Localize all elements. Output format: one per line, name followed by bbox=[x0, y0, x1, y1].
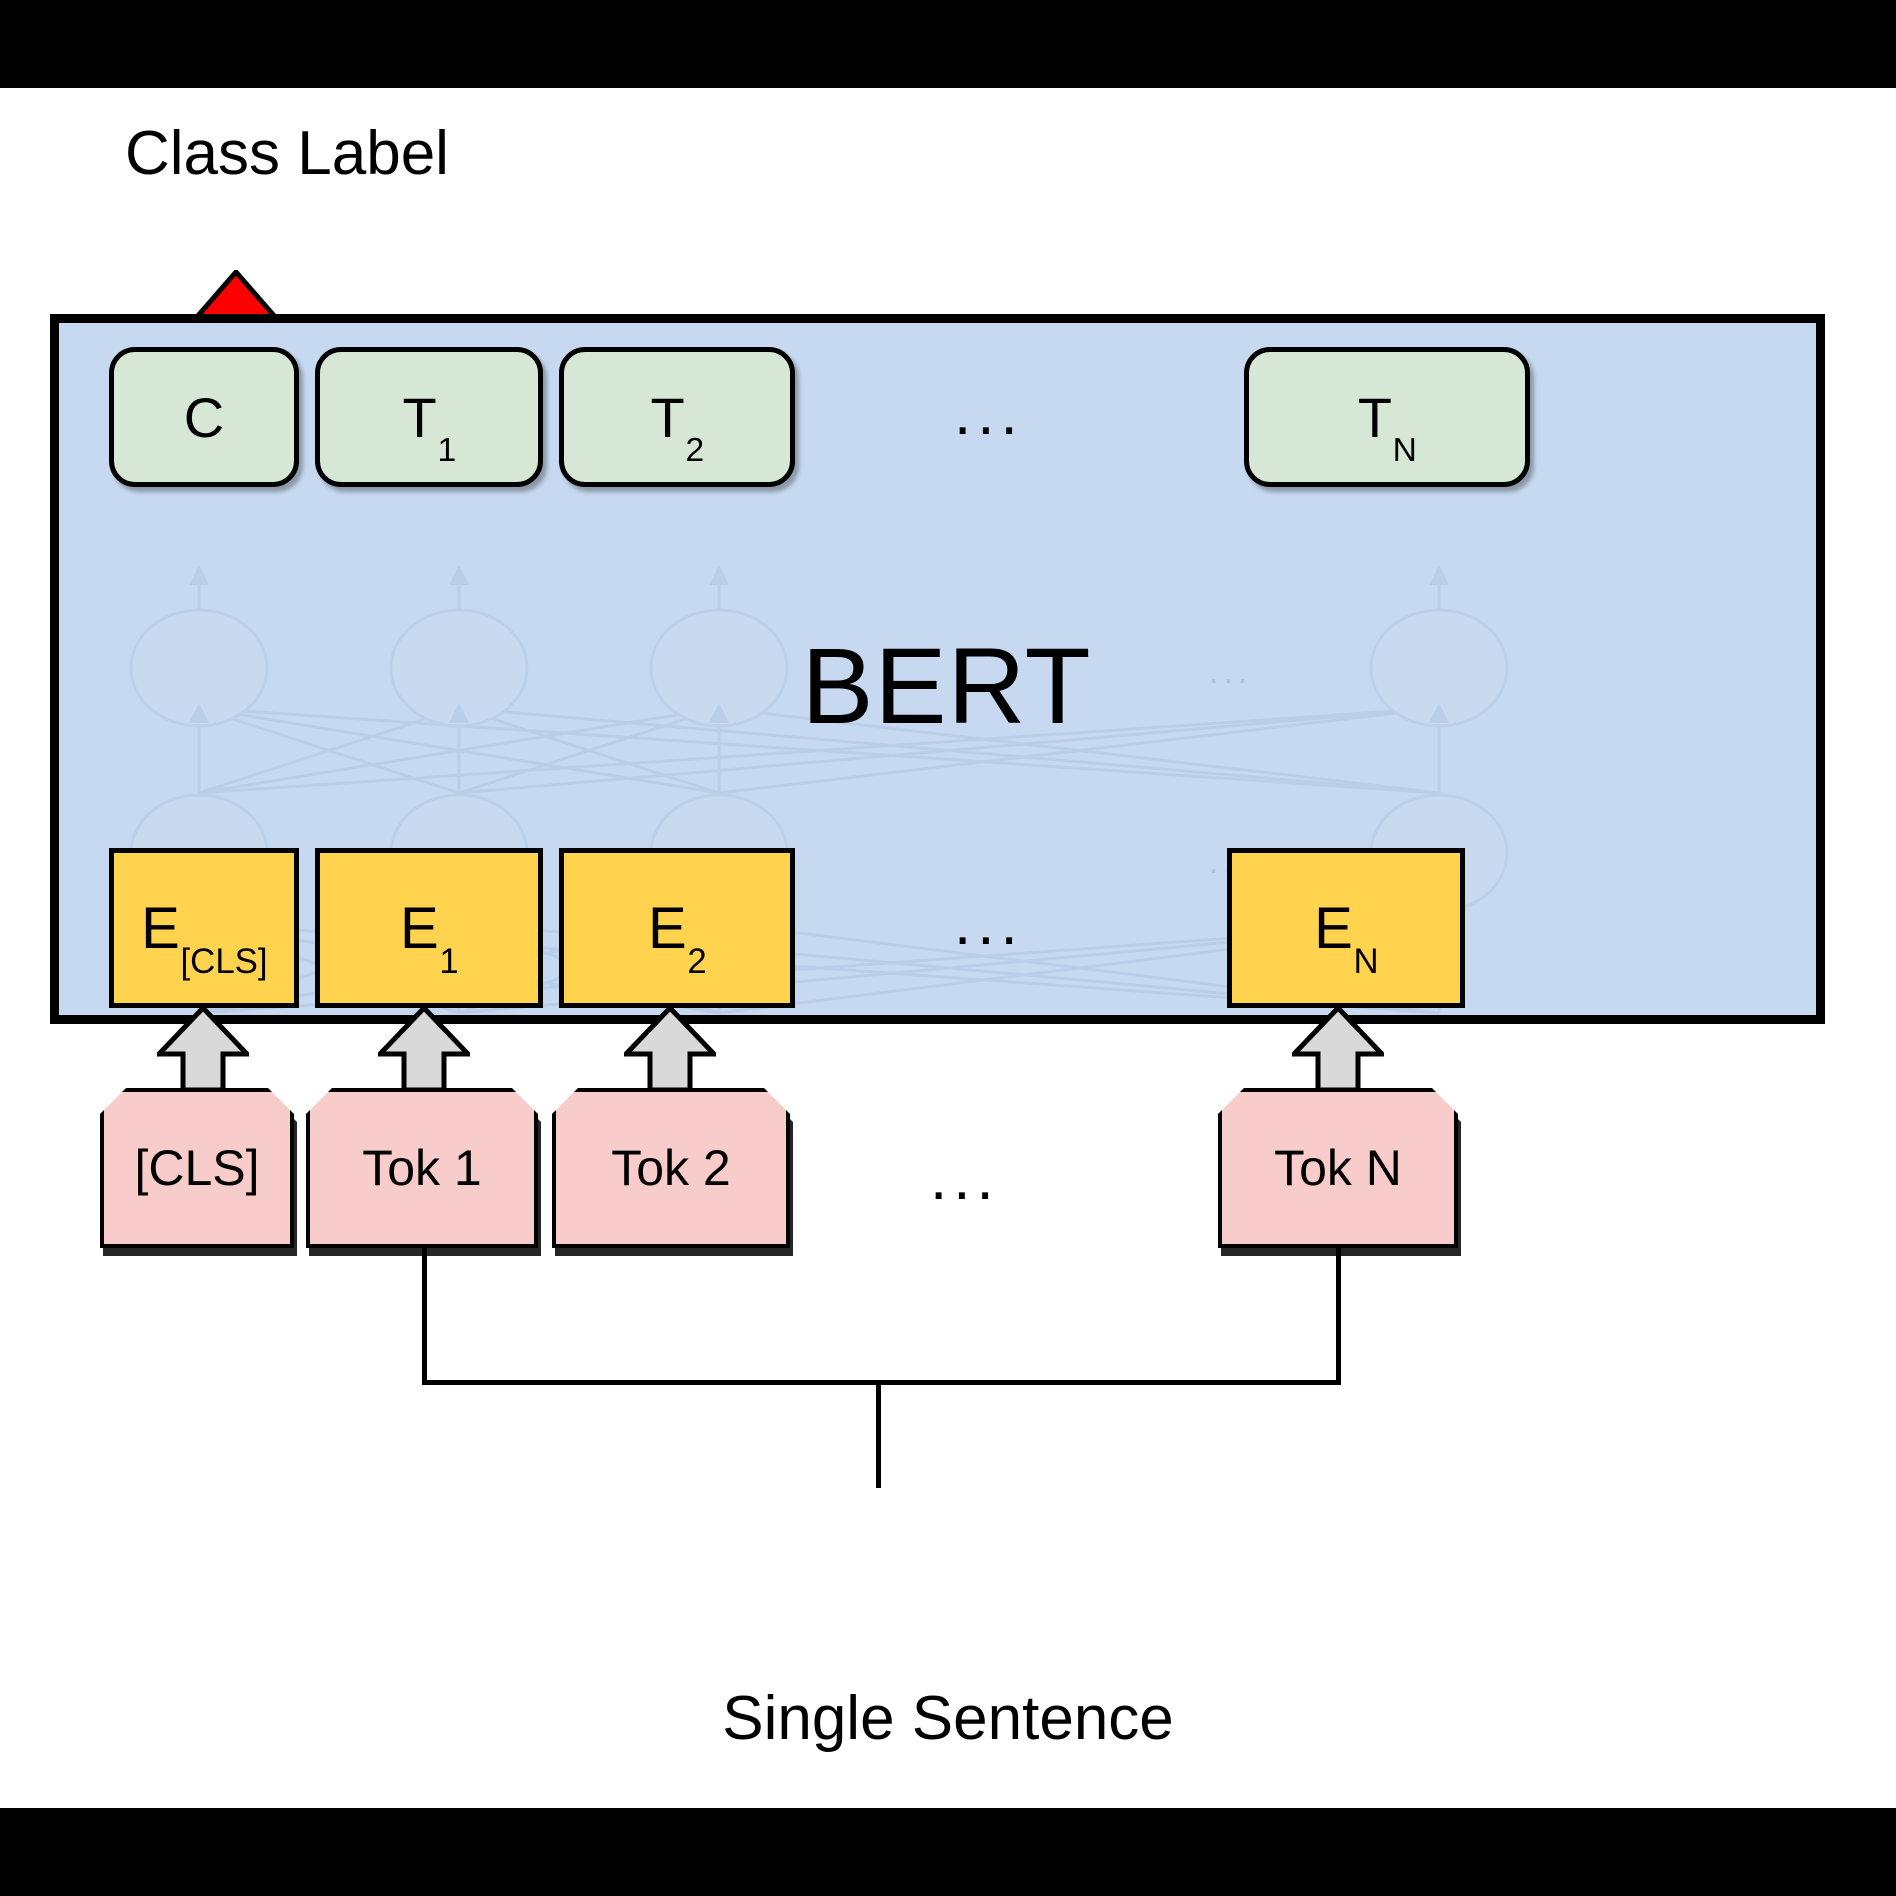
diagram-body: Class Label bbox=[0, 88, 1896, 1808]
token-tag-tokn-label: Tok N bbox=[1274, 1139, 1402, 1197]
token-tag-cls[interactable]: [CLS] bbox=[100, 1088, 294, 1248]
output-row-ellipsis: ... bbox=[954, 383, 1024, 445]
class-label-text: Class Label bbox=[125, 118, 455, 190]
token-tag-tok2[interactable]: Tok 2 bbox=[552, 1088, 790, 1248]
output-box-c[interactable]: C bbox=[109, 347, 299, 487]
token-tag-tok1-wrap: Tok 1 bbox=[306, 1088, 538, 1248]
output-box-t2-label: T2 bbox=[651, 385, 704, 450]
bracket-horizontal bbox=[422, 1380, 1341, 1385]
token-tag-cls-label: [CLS] bbox=[134, 1139, 259, 1197]
bracket-center-stem bbox=[876, 1380, 881, 1488]
token-tag-tok1[interactable]: Tok 1 bbox=[306, 1088, 538, 1248]
sentence-bracket bbox=[0, 1488, 1896, 1708]
input-arrow-icon-tok2 bbox=[624, 1006, 716, 1092]
input-arrow-icon-tokn bbox=[1292, 1006, 1384, 1092]
embedding-box-e2[interactable]: E2 bbox=[559, 848, 795, 1008]
token-tag-tokn[interactable]: Tok N bbox=[1218, 1088, 1458, 1248]
output-box-t1-label: T1 bbox=[403, 385, 456, 450]
embedding-box-en-label: EN bbox=[1314, 895, 1378, 962]
embedding-row-ellipsis: ... bbox=[954, 893, 1024, 955]
diagram-canvas: Class Label bbox=[0, 0, 1896, 1896]
output-box-c-label: C bbox=[184, 385, 224, 450]
inner-ellipsis-top: ... bbox=[1209, 653, 1252, 692]
input-arrow-icon-tok1 bbox=[378, 1006, 470, 1092]
token-tag-tok1-label: Tok 1 bbox=[362, 1139, 482, 1197]
bracket-right-stem bbox=[1336, 1248, 1341, 1384]
token-row-ellipsis: ... bbox=[930, 1148, 1000, 1210]
token-tag-tok2-label: Tok 2 bbox=[611, 1139, 731, 1197]
output-box-tn[interactable]: TN bbox=[1244, 347, 1530, 487]
embedding-box-e2-label: E2 bbox=[648, 895, 706, 962]
bert-encoder-panel: ... ... BERT C T1 T2 TN ... E[CLS] bbox=[50, 314, 1825, 1024]
embedding-box-e1[interactable]: E1 bbox=[315, 848, 543, 1008]
embedding-box-cls[interactable]: E[CLS] bbox=[109, 848, 299, 1008]
output-box-t2[interactable]: T2 bbox=[559, 347, 795, 487]
token-tag-tok2-wrap: Tok 2 bbox=[552, 1088, 790, 1248]
embedding-box-cls-label: E[CLS] bbox=[141, 895, 267, 962]
output-box-tn-label: TN bbox=[1358, 385, 1416, 450]
token-tag-tokn-wrap: Tok N bbox=[1218, 1088, 1458, 1248]
bracket-left-stem bbox=[422, 1248, 427, 1384]
output-box-t1[interactable]: T1 bbox=[315, 347, 543, 487]
input-arrow-icon-cls bbox=[157, 1006, 249, 1092]
embedding-box-e1-label: E1 bbox=[400, 895, 458, 962]
sentence-caption: Single Sentence bbox=[0, 1683, 1896, 1754]
embedding-box-en[interactable]: EN bbox=[1227, 848, 1465, 1008]
token-tag-cls-wrap: [CLS] bbox=[100, 1088, 294, 1248]
